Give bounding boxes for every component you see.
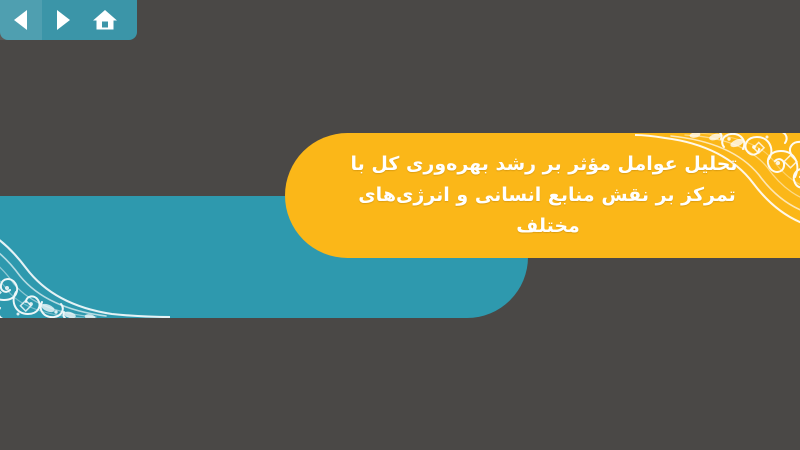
triangle-right-icon [53, 9, 73, 31]
arabesque-ornament-teal [0, 196, 170, 318]
arabesque-ornament-orange [635, 133, 800, 258]
orange-title-banner [285, 133, 800, 258]
home-icon [92, 8, 118, 32]
triangle-left-icon [11, 9, 31, 31]
slide-viewer: تحلیل عوامل مؤثر بر رشد بهره‌وری کل با ت… [0, 0, 800, 450]
slide-navigation-bar [0, 0, 137, 40]
slide-canvas: تحلیل عوامل مؤثر بر رشد بهره‌وری کل با ت… [0, 0, 800, 450]
next-slide-button[interactable] [42, 0, 84, 40]
home-button[interactable] [84, 0, 126, 40]
previous-slide-button[interactable] [0, 0, 42, 40]
